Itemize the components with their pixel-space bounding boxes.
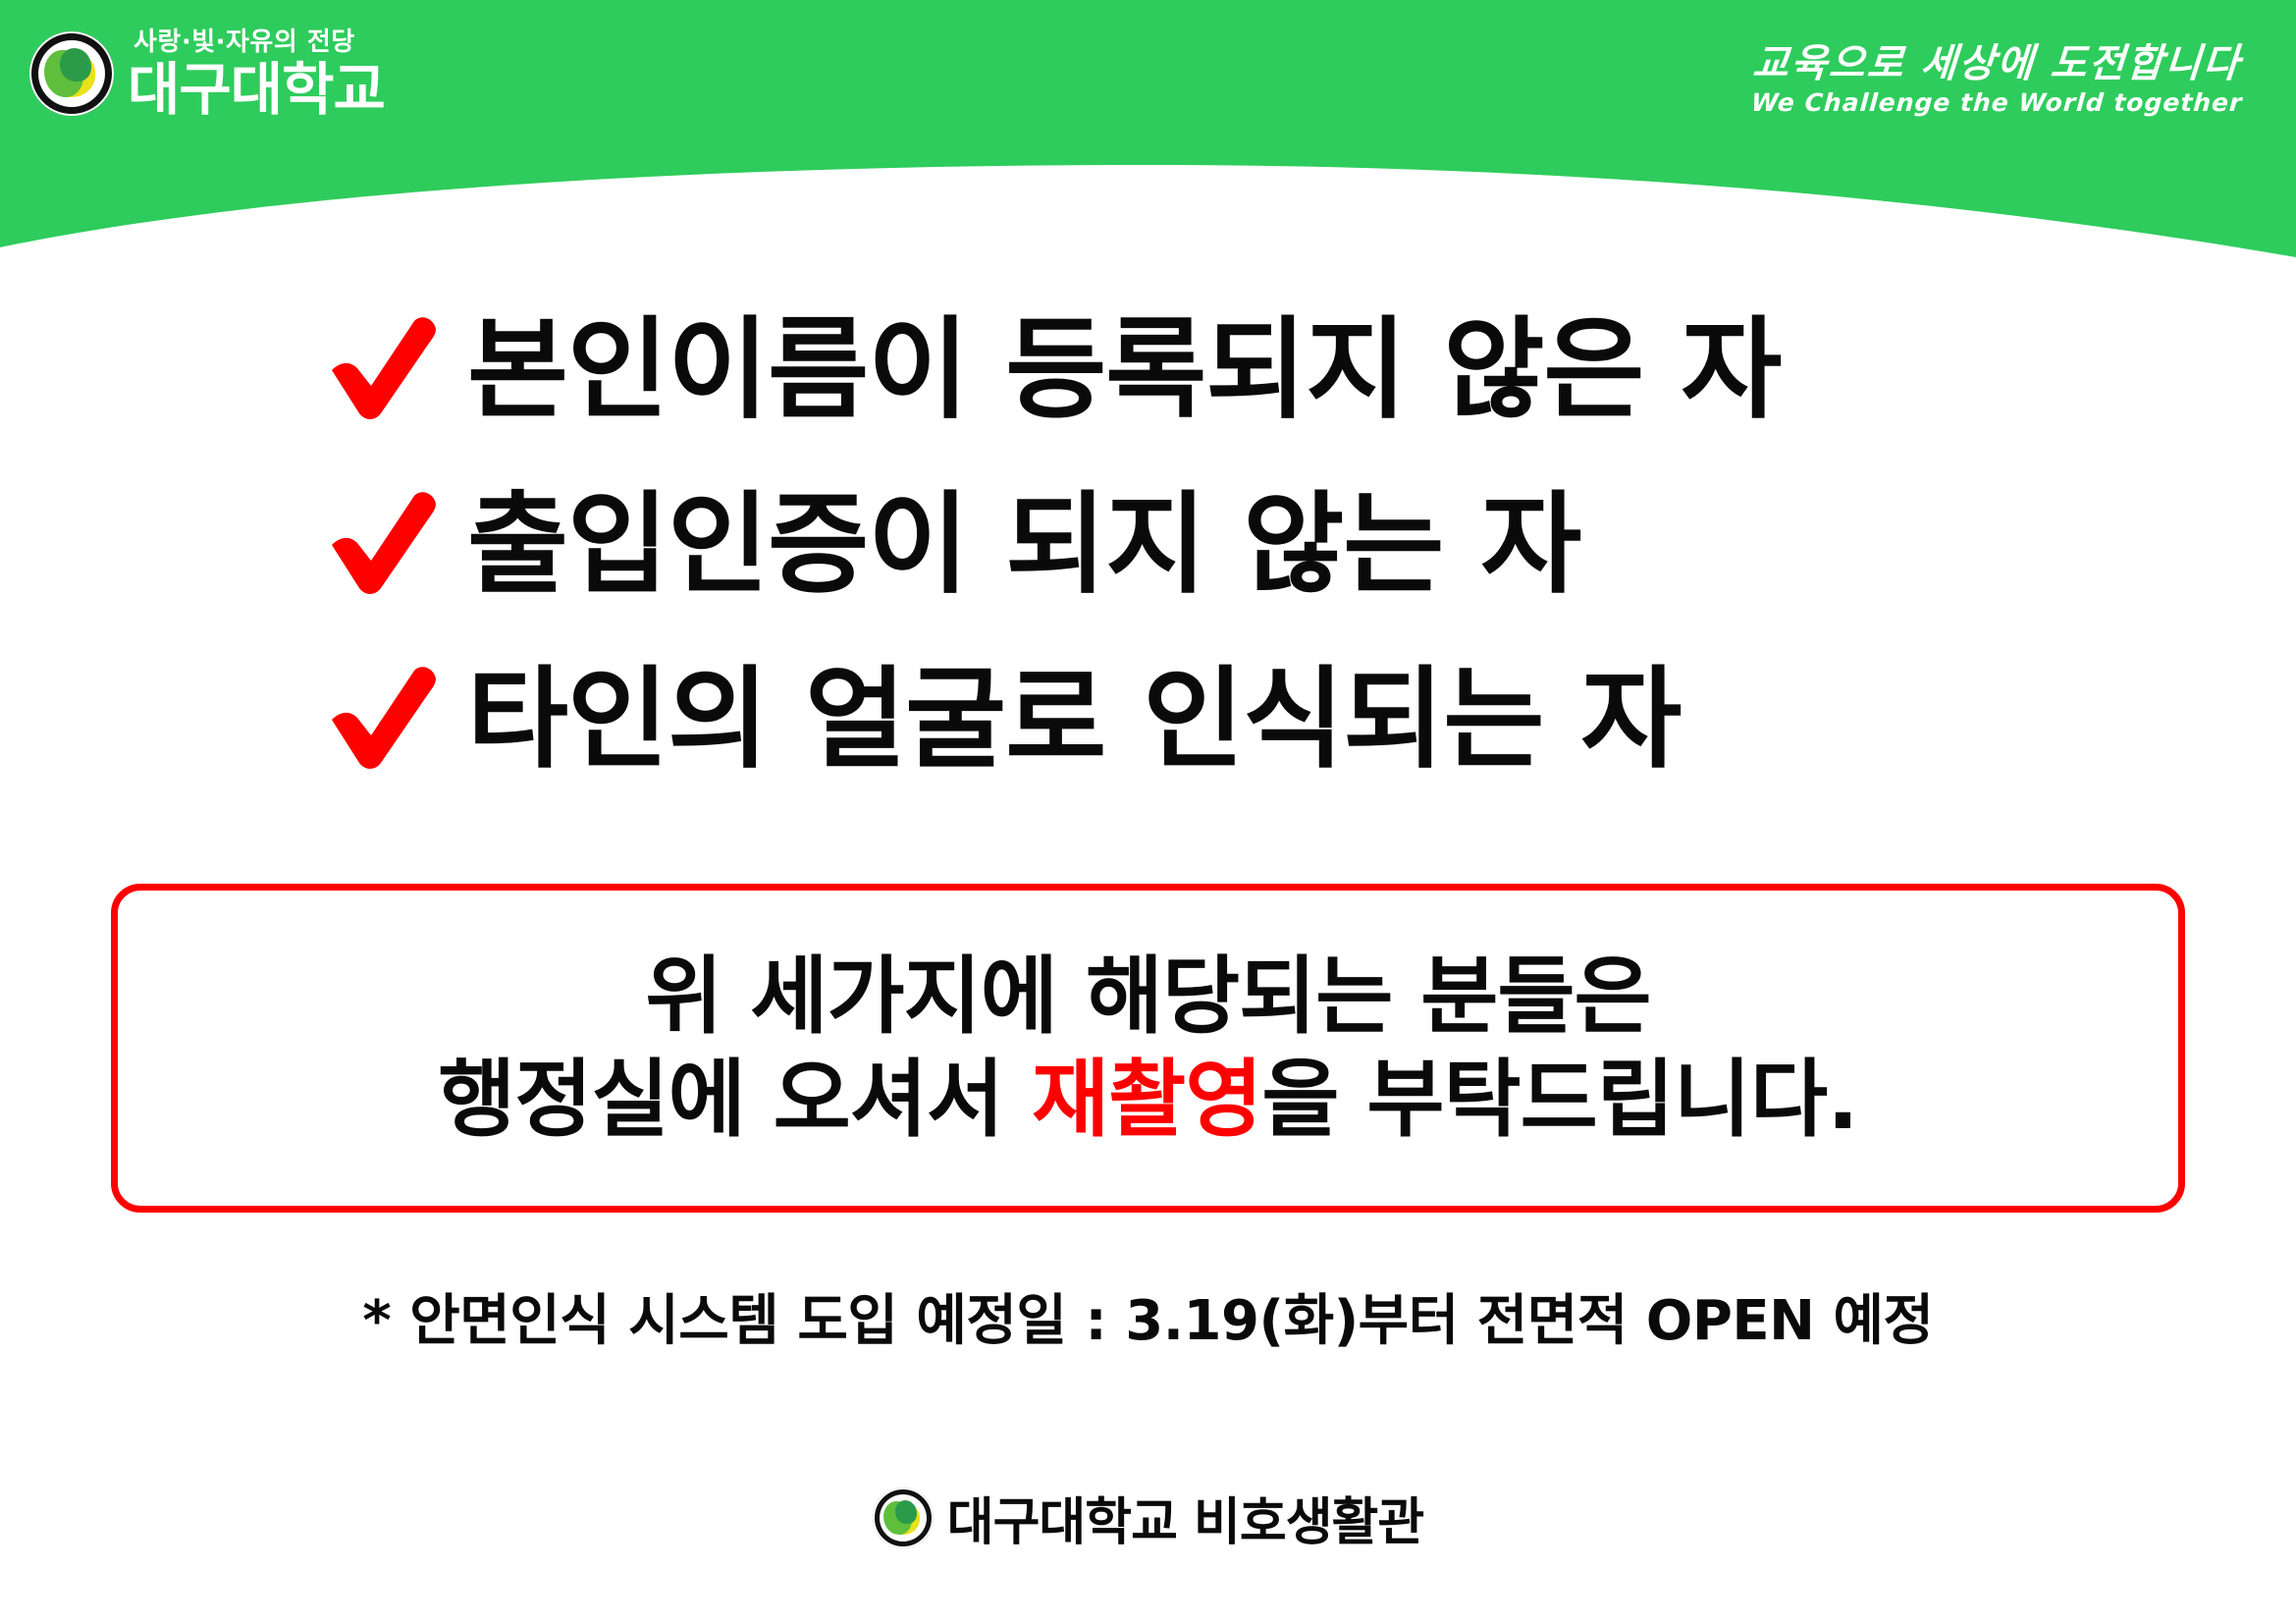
bullet-item: 본인이름이 등록되지 않은 자 bbox=[0, 283, 2296, 458]
brand-slogan-right: 교육으로 세상에 도전합니다 We Challenge the World to… bbox=[1751, 43, 2242, 116]
bullet-item: 출입인증이 되지 않는 자 bbox=[0, 458, 2296, 632]
bullet-text: 본인이름이 등록되지 않은 자 bbox=[467, 315, 1781, 425]
university-name: 대구대학교 bbox=[128, 61, 385, 118]
brand-text-column: 사랑·빛·자유의 전당 대구대학교 bbox=[128, 29, 385, 118]
daegu-university-seal-icon bbox=[29, 31, 114, 116]
bullet-list: 본인이름이 등록되지 않은 자 출입인증이 되지 않는 자 타인의 얼굴로 인식… bbox=[0, 283, 2296, 807]
callout-line-2-after: 을 부탁드립니다. bbox=[1261, 1051, 1857, 1149]
check-mark-icon bbox=[324, 313, 442, 421]
daegu-university-seal-icon bbox=[873, 1488, 934, 1548]
callout-highlight-rephoto: 재촬영 bbox=[1032, 1051, 1261, 1149]
footer: 대구대학교 비호생활관 bbox=[0, 1481, 2296, 1554]
callout-line-2: 행정실에 오셔서 재촬영을 부탁드립니다. bbox=[438, 1049, 1858, 1152]
brand-lockup-left: 사랑·빛·자유의 전당 대구대학교 bbox=[29, 29, 385, 118]
check-mark-icon bbox=[324, 488, 442, 596]
bullet-text: 타인의 얼굴로 인식되는 자 bbox=[467, 665, 1681, 775]
check-mark-icon bbox=[324, 663, 442, 771]
footer-organization-name: 대구대학교 비호생활관 bbox=[947, 1481, 1424, 1554]
university-tagline: 사랑·빛·자유의 전당 bbox=[133, 29, 385, 55]
slogan-english: We Challenge the World together bbox=[1750, 90, 2243, 116]
header-content: 사랑·빛·자유의 전당 대구대학교 교육으로 세상에 도전합니다 We Chal… bbox=[0, 0, 2296, 285]
callout-line-2-before: 행정실에 오셔서 bbox=[438, 1051, 1032, 1149]
callout-line-1: 위 세가지에 해당되는 분들은 bbox=[645, 946, 1650, 1049]
bullet-text: 출입인증이 되지 않는 자 bbox=[467, 490, 1580, 600]
bullet-item: 타인의 얼굴로 인식되는 자 bbox=[0, 632, 2296, 807]
callout-box: 위 세가지에 해당되는 분들은 행정실에 오셔서 재촬영을 부탁드립니다. bbox=[111, 884, 2185, 1213]
poster-canvas: 사랑·빛·자유의 전당 대구대학교 교육으로 세상에 도전합니다 We Chal… bbox=[0, 0, 2296, 1624]
footnote-text: * 안면인식 시스템 도입 예정일 : 3.19(화)부터 전면적 OPEN 예… bbox=[0, 1276, 2296, 1356]
slogan-korean: 교육으로 세상에 도전합니다 bbox=[1749, 43, 2243, 84]
